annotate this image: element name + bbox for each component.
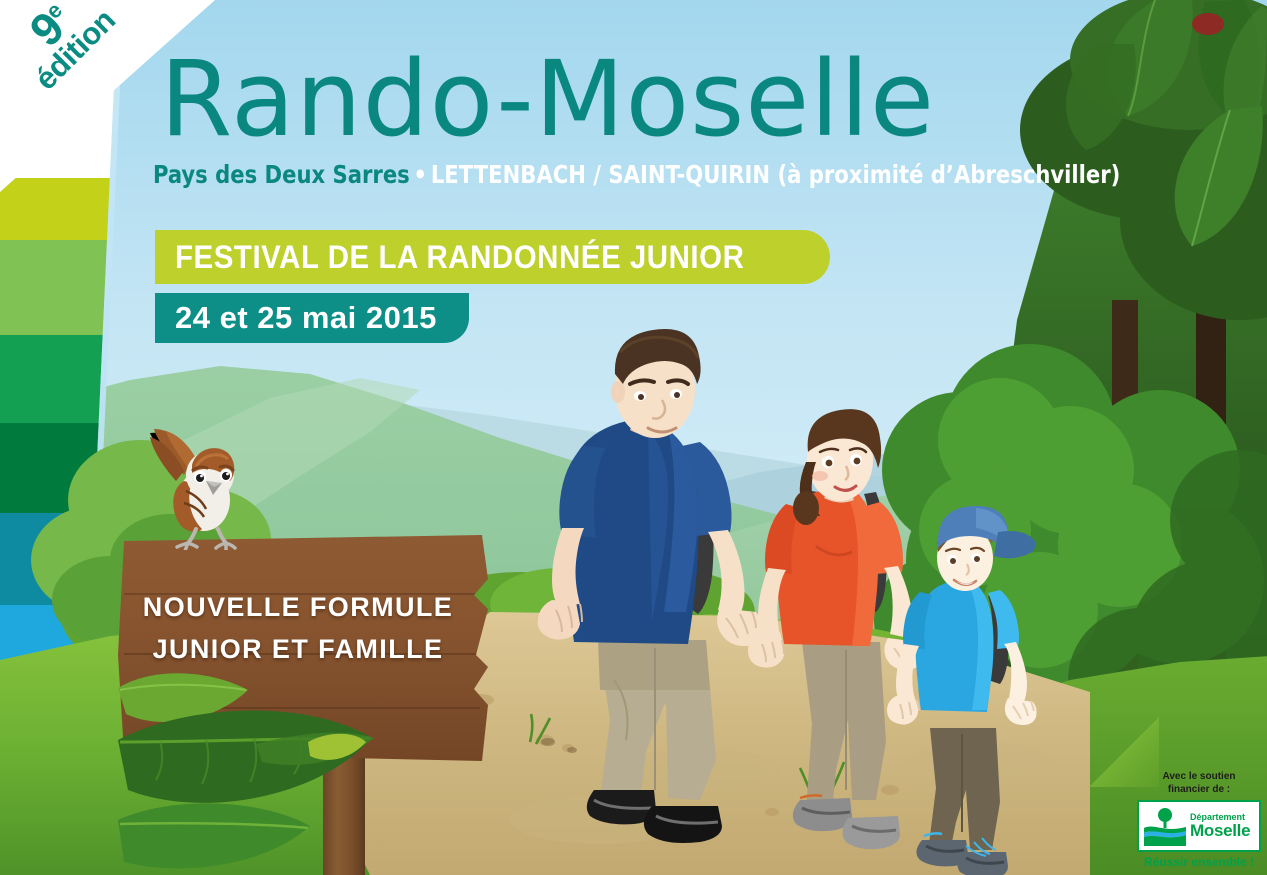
moselle-logo-large: Moselle (1190, 822, 1250, 839)
subtitle-separator: • (410, 160, 431, 189)
sign-line-2: JUNIOR ET FAMILLE (118, 629, 478, 671)
stripe-light-green (0, 240, 118, 335)
moselle-logo: Département Moselle (1137, 800, 1261, 852)
moselle-logo-words: Département Moselle (1190, 813, 1250, 839)
event-banner-label: FESTIVAL DE LA RANDONNÉE JUNIOR (175, 239, 744, 276)
stripe-lime (0, 178, 118, 240)
sponsor-support-text: Avec le soutien financier de : (1137, 771, 1261, 796)
dates-banner: 24 et 25 mai 2015 (155, 293, 469, 343)
subtitle-places: LETTENBACH / SAINT-QUIRIN (à proximité d… (431, 160, 1121, 189)
sign-board: NOUVELLE FORMULE JUNIOR ET FAMILLE (118, 535, 488, 761)
moselle-logo-mark (1144, 806, 1186, 846)
page-title: Rando-Moselle (160, 38, 935, 160)
sparrow-icon (140, 425, 260, 550)
subtitle: Pays des Deux Sarres•LETTENBACH / SAINT-… (153, 160, 1120, 189)
sponsor-support-line2: financier de : (1137, 784, 1261, 797)
sponsor-block: Avec le soutien financier de : Départeme… (1137, 771, 1261, 869)
subtitle-region: Pays des Deux Sarres (153, 160, 410, 189)
dates-banner-label: 24 et 25 mai 2015 (175, 300, 437, 336)
event-banner: FESTIVAL DE LA RANDONNÉE JUNIOR (155, 230, 830, 284)
sponsor-support-line1: Avec le soutien (1137, 771, 1261, 784)
sign-text: NOUVELLE FORMULE JUNIOR ET FAMILLE (118, 587, 478, 671)
sign-line-1: NOUVELLE FORMULE (118, 587, 478, 629)
moselle-tagline: Réussir ensemble ! (1137, 855, 1261, 869)
poster-root: NOUVELLE FORMULE JUNIOR ET FAMILLE (0, 0, 1267, 875)
